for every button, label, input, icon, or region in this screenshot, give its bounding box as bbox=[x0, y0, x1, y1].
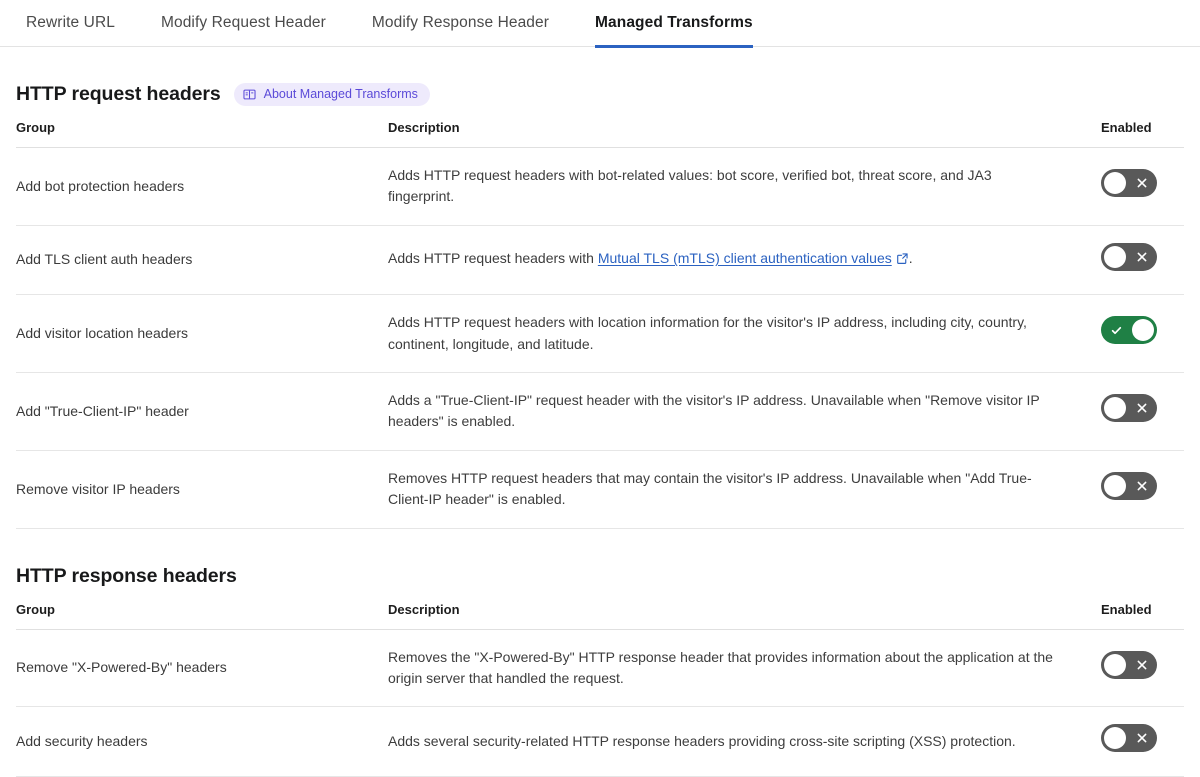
row-description: Adds HTTP request headers with location … bbox=[388, 295, 1101, 373]
response-section-header: HTTP response headers bbox=[16, 565, 1184, 588]
toggle-knob bbox=[1104, 397, 1126, 419]
toggle-add-true-client-ip-header[interactable] bbox=[1101, 394, 1157, 422]
table-row: Add bot protection headers Adds HTTP req… bbox=[16, 148, 1184, 226]
book-icon bbox=[243, 88, 256, 101]
tab-bar: Rewrite URL Modify Request Header Modify… bbox=[0, 0, 1200, 47]
row-group-name: Remove "X-Powered-By" headers bbox=[16, 629, 388, 707]
row-enabled-cell bbox=[1101, 148, 1184, 226]
row-enabled-cell bbox=[1101, 295, 1184, 373]
page-title: HTTP request headers bbox=[16, 83, 221, 106]
row-group-name: Add bot protection headers bbox=[16, 148, 388, 226]
row-group-name: Add "True-Client-IP" header bbox=[16, 373, 388, 451]
row-enabled-cell bbox=[1101, 225, 1184, 294]
description-prefix: Adds HTTP request headers with bbox=[388, 250, 598, 266]
table-row: Add "True-Client-IP" header Adds a "True… bbox=[16, 373, 1184, 451]
section-http-request-headers: HTTP request headers About Managed Trans… bbox=[16, 83, 1184, 529]
table-row: Add visitor location headers Adds HTTP r… bbox=[16, 295, 1184, 373]
toggle-remove-visitor-ip-headers[interactable] bbox=[1101, 472, 1157, 500]
row-description: Removes the "X-Powered-By" HTTP response… bbox=[388, 629, 1101, 707]
table-row: Remove visitor IP headers Removes HTTP r… bbox=[16, 450, 1184, 528]
toggle-add-bot-protection-headers[interactable] bbox=[1101, 169, 1157, 197]
description-suffix: . bbox=[909, 250, 913, 266]
row-description: Adds a "True-Client-IP" request header w… bbox=[388, 373, 1101, 451]
external-link-icon[interactable] bbox=[896, 250, 909, 271]
about-badge-label: About Managed Transforms bbox=[264, 88, 418, 101]
check-icon bbox=[1103, 316, 1130, 344]
toggle-knob bbox=[1132, 319, 1154, 341]
request-section-header: HTTP request headers About Managed Trans… bbox=[16, 83, 1184, 106]
table-header-row: Group Description Enabled bbox=[16, 120, 1184, 148]
column-header-description: Description bbox=[388, 120, 1101, 148]
response-section-title: HTTP response headers bbox=[16, 565, 237, 588]
row-enabled-cell bbox=[1101, 629, 1184, 707]
cross-icon bbox=[1128, 472, 1155, 500]
row-enabled-cell bbox=[1101, 450, 1184, 528]
about-managed-transforms-badge[interactable]: About Managed Transforms bbox=[234, 83, 430, 106]
toggle-add-tls-client-auth-headers[interactable] bbox=[1101, 243, 1157, 271]
table-row: Add TLS client auth headers Adds HTTP re… bbox=[16, 225, 1184, 294]
row-group-name: Add visitor location headers bbox=[16, 295, 388, 373]
request-headers-table: Group Description Enabled Add bot protec… bbox=[16, 120, 1184, 529]
table-row: Remove "X-Powered-By" headers Removes th… bbox=[16, 629, 1184, 707]
cross-icon bbox=[1128, 243, 1155, 271]
toggle-knob bbox=[1104, 727, 1126, 749]
column-header-group: Group bbox=[16, 120, 388, 148]
tab-managed-transforms[interactable]: Managed Transforms bbox=[595, 0, 753, 48]
column-header-group: Group bbox=[16, 602, 388, 630]
toggle-knob bbox=[1104, 246, 1126, 268]
tab-modify-response-header[interactable]: Modify Response Header bbox=[372, 0, 549, 48]
row-description: Adds HTTP request headers with bot-relat… bbox=[388, 148, 1101, 226]
cross-icon bbox=[1128, 724, 1155, 752]
column-header-description: Description bbox=[388, 602, 1101, 630]
section-http-response-headers: HTTP response headers Group Description … bbox=[16, 565, 1184, 777]
tab-modify-request-header[interactable]: Modify Request Header bbox=[161, 0, 326, 48]
cross-icon bbox=[1128, 169, 1155, 197]
row-group-name: Add TLS client auth headers bbox=[16, 225, 388, 294]
row-enabled-cell bbox=[1101, 373, 1184, 451]
mtls-documentation-link[interactable]: Mutual TLS (mTLS) client authentication … bbox=[598, 250, 892, 266]
response-headers-table: Group Description Enabled Remove "X-Powe… bbox=[16, 602, 1184, 777]
cross-icon bbox=[1128, 394, 1155, 422]
toggle-knob bbox=[1104, 172, 1126, 194]
toggle-knob bbox=[1104, 654, 1126, 676]
toggle-remove-x-powered-by-headers[interactable] bbox=[1101, 651, 1157, 679]
cross-icon bbox=[1128, 651, 1155, 679]
toggle-add-security-headers[interactable] bbox=[1101, 724, 1157, 752]
row-description: Removes HTTP request headers that may co… bbox=[388, 450, 1101, 528]
table-header-row: Group Description Enabled bbox=[16, 602, 1184, 630]
tab-rewrite-url[interactable]: Rewrite URL bbox=[26, 0, 115, 48]
column-header-enabled: Enabled bbox=[1101, 602, 1184, 630]
toggle-knob bbox=[1104, 475, 1126, 497]
row-group-name: Remove visitor IP headers bbox=[16, 450, 388, 528]
column-header-enabled: Enabled bbox=[1101, 120, 1184, 148]
page-content: HTTP request headers About Managed Trans… bbox=[0, 83, 1200, 777]
toggle-add-visitor-location-headers[interactable] bbox=[1101, 316, 1157, 344]
row-description: Adds HTTP request headers with Mutual TL… bbox=[388, 225, 1101, 294]
